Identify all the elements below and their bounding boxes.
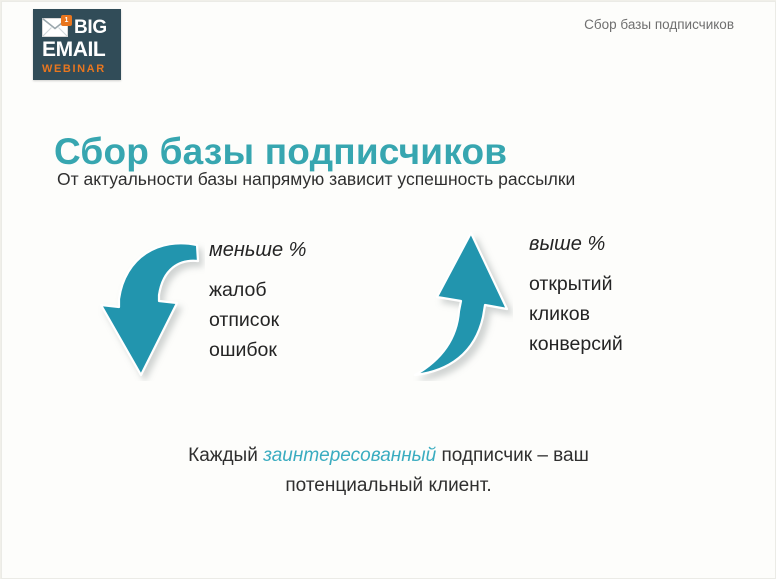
page-subtitle: От актуальности базы напрямую зависит ус… xyxy=(57,169,575,190)
footer-line-2: потенциальный клиент. xyxy=(1,471,776,501)
footer-statement: Каждый заинтересованный подписчик – ваш … xyxy=(1,441,776,501)
unread-badge: 1 xyxy=(61,15,72,26)
column-increase-text: выше % открытий кликов конверсий xyxy=(529,225,623,359)
slide-canvas: 1 BIG EMAIL WEBINAR Сбор базы подписчико… xyxy=(0,0,776,579)
footer-line-1: Каждый заинтересованный подписчик – ваш xyxy=(1,441,776,471)
list-item: отписок xyxy=(209,305,306,335)
percent-label-increase: выше % xyxy=(529,233,623,255)
increase-item-list: открытий кликов конверсий xyxy=(529,269,623,359)
logo-text-email: EMAIL xyxy=(42,39,113,61)
logo-text-webinar: WEBINAR xyxy=(42,63,113,76)
envelope-icon: 1 xyxy=(42,18,70,37)
percent-label-decrease: меньше % xyxy=(209,239,306,261)
curved-down-arrow-icon xyxy=(97,229,205,381)
curved-up-arrow-icon xyxy=(409,225,513,381)
column-decrease: меньше % жалоб отписок ошибок xyxy=(97,229,306,381)
logo-text-big: BIG xyxy=(74,18,107,37)
list-item: кликов xyxy=(529,299,623,329)
list-item: жалоб xyxy=(209,275,306,305)
list-item: открытий xyxy=(529,269,623,299)
column-increase: выше % открытий кликов конверсий xyxy=(409,225,623,381)
page-title: Сбор базы подписчиков xyxy=(54,131,507,173)
footer-accent-word: заинтересованный xyxy=(263,445,436,466)
brand-logo: 1 BIG EMAIL WEBINAR xyxy=(33,9,121,80)
header-breadcrumb-label: Сбор базы подписчиков xyxy=(584,17,734,32)
footer-text-after: подписчик – ваш xyxy=(436,445,589,466)
decrease-item-list: жалоб отписок ошибок xyxy=(209,275,306,365)
list-item: ошибок xyxy=(209,335,306,365)
list-item: конверсий xyxy=(529,329,623,359)
footer-text-before: Каждый xyxy=(188,445,263,466)
column-decrease-text: меньше % жалоб отписок ошибок xyxy=(209,229,306,365)
logo-top-row: 1 BIG xyxy=(42,16,113,38)
